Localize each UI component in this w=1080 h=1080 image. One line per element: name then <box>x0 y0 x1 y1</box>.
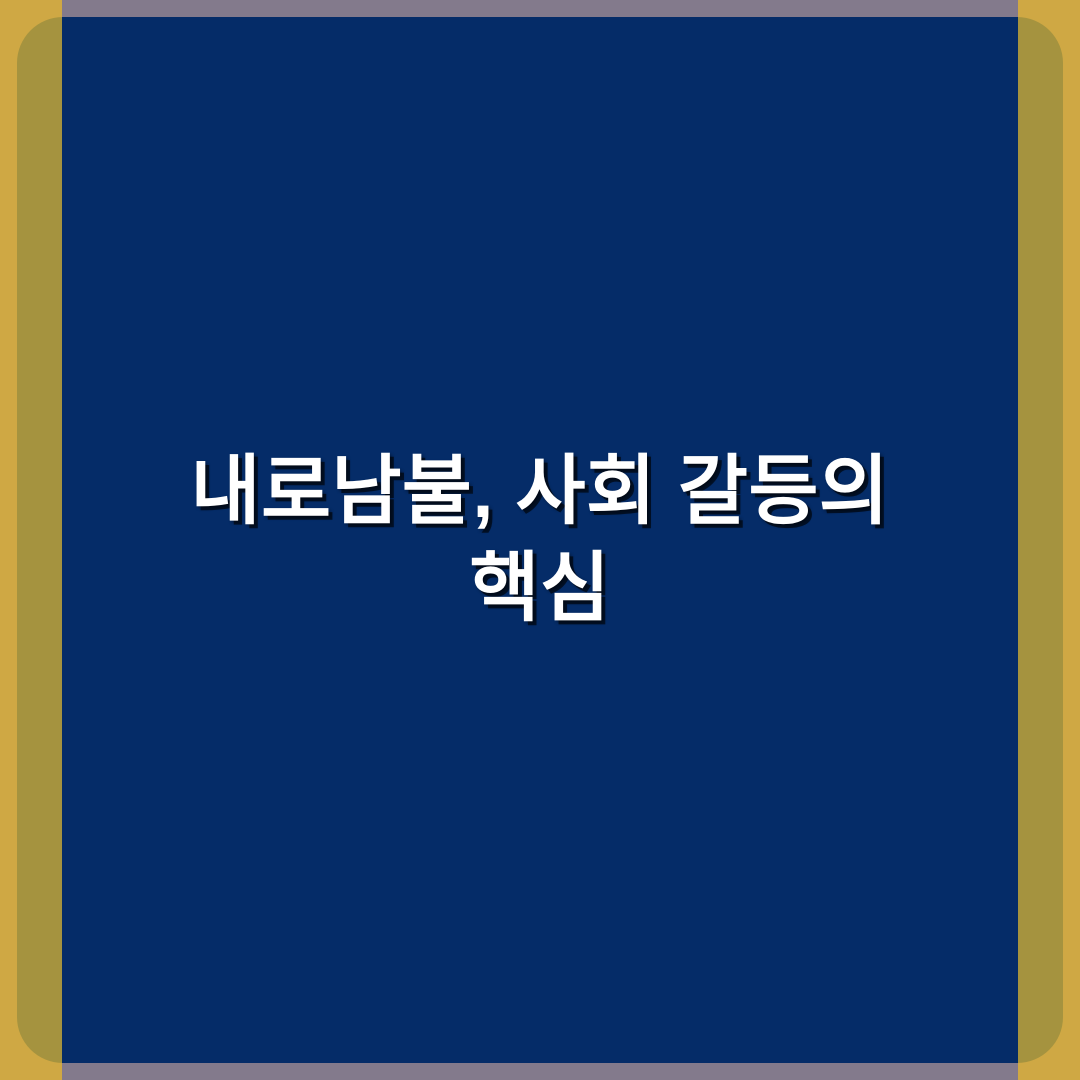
page-title: 내로남불, 사회 갈등의핵심 <box>62 443 1018 638</box>
bottom-accent-band <box>62 1063 1018 1080</box>
headline-container: 내로남불, 사회 갈등의핵심 <box>62 0 1018 1080</box>
headline-line-1: 내로남불, 사회 갈등의 <box>191 449 890 534</box>
navy-content-panel: 내로남불, 사회 갈등의핵심 <box>62 0 1018 1080</box>
title-card: 내로남불, 사회 갈등의핵심 <box>0 0 1080 1080</box>
headline-line-2: 핵심 <box>470 546 611 631</box>
